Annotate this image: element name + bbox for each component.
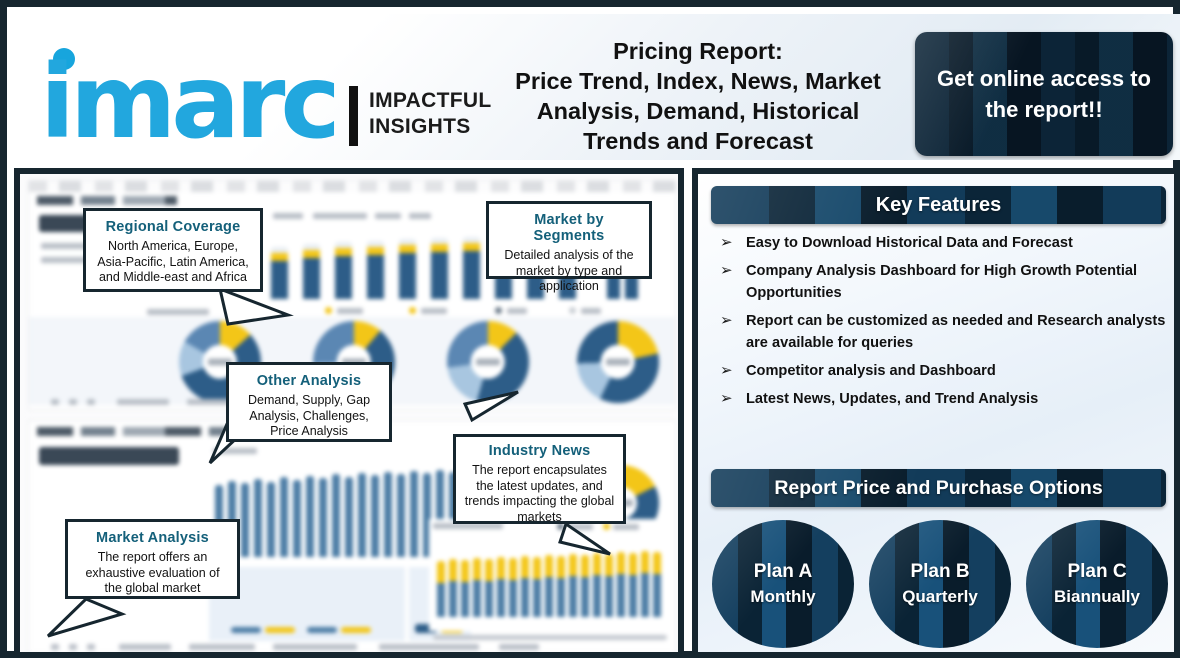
imarc-logo: imarc IMPACTFUL INSIGHTS <box>28 26 478 148</box>
plan-period: Quarterly <box>902 584 978 609</box>
callout-industry-news: Industry News The report encapsulates th… <box>453 434 626 524</box>
callout-title: Market Analysis <box>76 530 229 546</box>
get-online-access-button[interactable]: Get online access to the report!! <box>915 32 1173 156</box>
callout-body: The report offers an exhaustive evaluati… <box>76 550 229 597</box>
key-feature-text: Report can be customized as needed and R… <box>746 310 1176 354</box>
page-title-line: Pricing Report: <box>492 36 904 66</box>
logo-tagline: IMPACTFUL INSIGHTS <box>369 88 491 140</box>
features-and-pricing-panel: Key Features ➢ Easy to Download Historic… <box>692 168 1180 658</box>
key-feature-text: Company Analysis Dashboard for High Grow… <box>746 260 1176 304</box>
pricing-heading: Report Price and Purchase Options <box>711 469 1166 507</box>
key-features-heading: Key Features <box>711 186 1166 224</box>
key-feature-text: Easy to Download Historical Data and For… <box>746 232 1073 254</box>
callout-market-analysis: Market Analysis The report offers an exh… <box>65 519 240 599</box>
arrow-bullet-icon: ➢ <box>716 360 746 381</box>
key-feature-item: ➢ Easy to Download Historical Data and F… <box>716 232 1176 254</box>
key-feature-text: Competitor analysis and Dashboard <box>746 360 996 382</box>
callout-body: Detailed analysis of the market by type … <box>497 248 641 295</box>
logo-wordmark: imarc <box>40 52 336 154</box>
key-feature-item: ➢ Report can be customized as needed and… <box>716 310 1176 354</box>
logo-divider <box>349 86 358 146</box>
key-feature-item: ➢ Latest News, Updates, and Trend Analys… <box>716 388 1176 410</box>
callout-title: Industry News <box>464 443 615 459</box>
header-banner: imarc IMPACTFUL INSIGHTS Pricing Report:… <box>14 14 1180 160</box>
logo-tagline-line1: IMPACTFUL <box>369 88 491 114</box>
callout-other-analysis: Other Analysis Demand, Supply, Gap Analy… <box>226 362 392 442</box>
key-features-heading-label: Key Features <box>876 194 1002 217</box>
plan-period: Biannually <box>1054 584 1140 609</box>
arrow-bullet-icon: ➢ <box>716 388 746 409</box>
plan-name: Plan B <box>910 559 969 584</box>
page-title-line: Trends and Forecast <box>492 126 904 156</box>
plan-period: Monthly <box>750 584 815 609</box>
callout-body: North America, Europe, Asia-Pacific, Lat… <box>94 239 252 286</box>
poster-root: imarc IMPACTFUL INSIGHTS Pricing Report:… <box>0 0 1180 658</box>
key-feature-item: ➢ Company Analysis Dashboard for High Gr… <box>716 260 1176 304</box>
callout-market-by-segments: Market by Segments Detailed analysis of … <box>486 201 652 279</box>
plan-options: Plan A Monthly Plan B Quarterly Plan C B… <box>712 519 1168 649</box>
logo-tagline-line2: INSIGHTS <box>369 114 491 140</box>
callout-regional-coverage: Regional Coverage North America, Europe,… <box>83 208 263 292</box>
page-title: Pricing Report:Price Trend, Index, News,… <box>492 36 904 156</box>
callout-body: The report encapsulates the latest updat… <box>464 463 615 525</box>
callout-title: Regional Coverage <box>94 219 252 235</box>
dashboard-preview-panel[interactable]: Regional Coverage North America, Europe,… <box>14 168 684 658</box>
callout-title: Other Analysis <box>237 373 381 389</box>
key-features-list: ➢ Easy to Download Historical Data and F… <box>716 232 1176 416</box>
cta-label: Get online access to the report!! <box>915 63 1173 125</box>
callout-body: Demand, Supply, Gap Analysis, Challenges… <box>237 393 381 440</box>
plan-name: Plan A <box>754 559 812 584</box>
plan-option-b[interactable]: Plan B Quarterly <box>869 520 1011 648</box>
page-title-line: Analysis, Demand, Historical <box>492 96 904 126</box>
plan-option-c[interactable]: Plan C Biannually <box>1026 520 1168 648</box>
pricing-heading-label: Report Price and Purchase Options <box>774 477 1102 500</box>
arrow-bullet-icon: ➢ <box>716 310 746 331</box>
arrow-bullet-icon: ➢ <box>716 260 746 281</box>
page-title-line: Price Trend, Index, News, Market <box>492 66 904 96</box>
callout-title: Market by Segments <box>497 212 641 244</box>
key-feature-text: Latest News, Updates, and Trend Analysis <box>746 388 1038 410</box>
plan-option-a[interactable]: Plan A Monthly <box>712 520 854 648</box>
arrow-bullet-icon: ➢ <box>716 232 746 253</box>
key-feature-item: ➢ Competitor analysis and Dashboard <box>716 360 1176 382</box>
plan-name: Plan C <box>1067 559 1126 584</box>
